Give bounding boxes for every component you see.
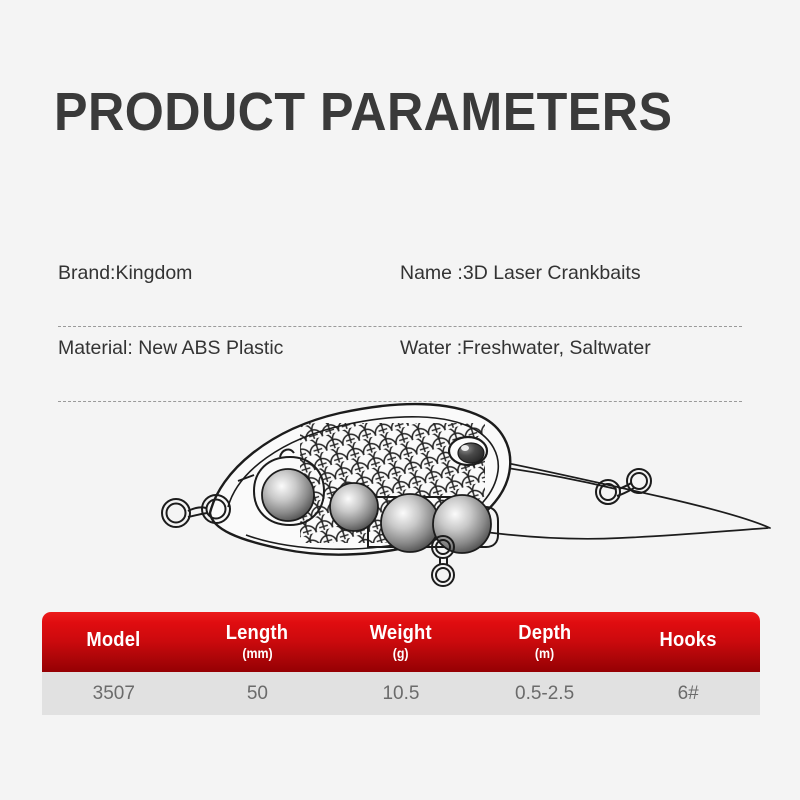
lure-illustration [150,395,790,595]
header-unit: (m) [535,647,554,661]
parameter-table: Model Length (mm) Weight (g) Depth (m) H… [42,612,760,715]
table-header-length: Length (mm) [186,612,330,672]
header-label: Hooks [660,630,717,650]
table-row: 3507 50 10.5 0.5-2.5 6# [42,672,760,715]
specification-list: Brand:Kingdom Name :3D Laser Crankbaits … [58,252,742,402]
spec-row: Brand:Kingdom Name :3D Laser Crankbaits [58,252,742,327]
spec-material: Material: New ABS Plastic [58,337,283,360]
spec-row: Material: New ABS Plastic Water :Freshwa… [58,327,742,402]
header-label: Depth [518,623,571,643]
table-header-row: Model Length (mm) Weight (g) Depth (m) H… [42,612,760,672]
cell-hooks: 6# [616,672,760,715]
lure-eye [449,437,487,465]
cell-depth: 0.5-2.5 [473,672,617,715]
table-body: 3507 50 10.5 0.5-2.5 6# [42,672,760,715]
table-header-depth: Depth (m) [473,612,617,672]
table-header-weight: Weight (g) [329,612,473,672]
spec-name: Name :3D Laser Crankbaits [400,262,641,285]
table-header-hooks: Hooks [616,612,760,672]
header-label: Weight [370,623,432,643]
page-title: PRODUCT PARAMETERS [54,82,672,142]
header-label: Model [87,630,141,650]
cell-length: 50 [186,672,330,715]
spec-water: Water :Freshwater, Saltwater [400,337,651,360]
cell-weight: 10.5 [329,672,473,715]
table-header-model: Model [42,612,186,672]
header-unit: (g) [393,647,409,661]
cell-model: 3507 [42,672,186,715]
header-label: Length [226,623,288,643]
header-unit: (mm) [242,647,272,661]
spec-brand: Brand:Kingdom [58,262,192,285]
